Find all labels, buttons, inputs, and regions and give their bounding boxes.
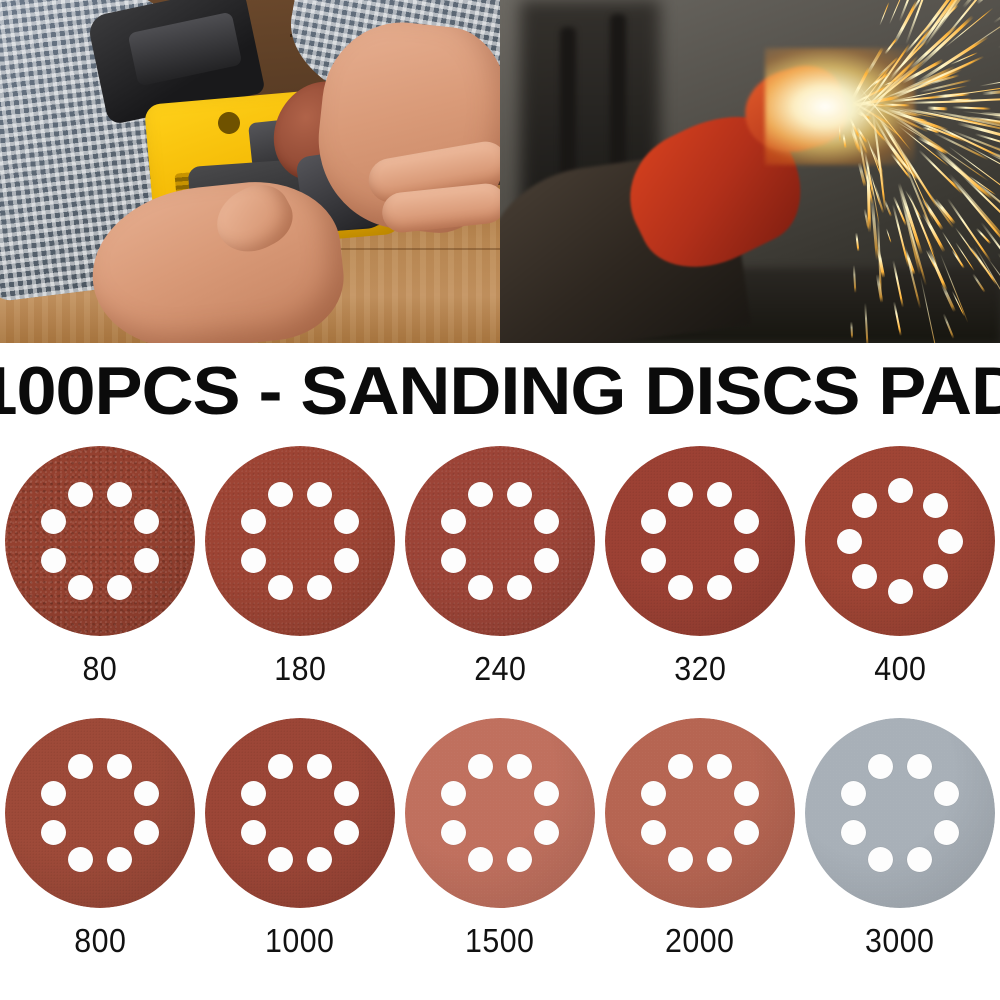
spark <box>856 233 860 252</box>
disc-hole <box>107 754 132 779</box>
disc-hole <box>507 575 532 600</box>
disc-hole <box>938 529 963 554</box>
disc-hole <box>334 548 359 573</box>
disc-body <box>805 718 995 908</box>
disc-cell-grit-240[interactable]: 240 <box>400 438 600 708</box>
disc-hole <box>707 482 732 507</box>
sanding-disc-grid: 80180240320400 8001000150020003000 <box>0 438 1000 1000</box>
sanding-disc-icon <box>605 718 795 908</box>
spark <box>972 274 985 293</box>
disc-hole <box>907 847 932 872</box>
spark <box>904 210 926 285</box>
sanding-disc-icon <box>405 718 595 908</box>
grit-label: 3000 <box>865 922 934 960</box>
sanding-disc-icon <box>205 446 395 636</box>
photo-sander-disc-attachment <box>0 0 500 343</box>
disc-hole <box>852 493 877 518</box>
disc-body <box>5 718 195 908</box>
disc-grain-texture <box>405 446 595 636</box>
grit-label: 180 <box>274 650 326 688</box>
disc-hole <box>734 820 759 845</box>
disc-grain-texture <box>5 446 195 636</box>
spark <box>839 125 840 142</box>
disc-hole <box>907 754 932 779</box>
disc-hole <box>534 548 559 573</box>
grit-label: 2000 <box>665 922 734 960</box>
disc-grain-texture <box>605 718 795 908</box>
spark <box>850 321 853 338</box>
disc-cell-grit-3000[interactable]: 3000 <box>800 710 1000 980</box>
disc-grain-texture <box>805 718 995 908</box>
grit-label: 1000 <box>265 922 334 960</box>
photo-strip <box>0 0 1000 343</box>
spark <box>879 1 890 25</box>
sanding-disc-icon <box>5 718 195 908</box>
disc-cell-grit-800[interactable]: 800 <box>0 710 200 980</box>
disc-cell-grit-400[interactable]: 400 <box>800 438 1000 708</box>
disc-body <box>605 446 795 636</box>
spark <box>952 106 991 109</box>
disc-body <box>205 718 395 908</box>
disc-hole <box>707 847 732 872</box>
spark <box>976 0 1000 4</box>
disc-cell-grit-1500[interactable]: 1500 <box>400 710 600 980</box>
disc-hole <box>307 754 332 779</box>
disc-body <box>205 446 395 636</box>
disc-body <box>805 446 995 636</box>
sanding-disc-icon <box>805 446 995 636</box>
photo-metal-grinding-sparks <box>500 0 1000 343</box>
spark <box>842 133 846 148</box>
disc-hole <box>107 482 132 507</box>
disc-cell-grit-320[interactable]: 320 <box>600 438 800 708</box>
disc-grain-texture <box>205 446 395 636</box>
sanding-disc-icon <box>605 446 795 636</box>
disc-hole <box>441 548 466 573</box>
title-band: 100PCS - SANDING DISCS PAD <box>0 343 1000 438</box>
disc-grain-texture <box>5 718 195 908</box>
spark-field <box>500 0 1000 343</box>
disc-hole <box>888 579 913 604</box>
disc-body <box>405 446 595 636</box>
spark <box>993 0 1000 24</box>
disc-hole <box>241 548 266 573</box>
spark <box>886 229 892 244</box>
disc-hole <box>507 482 532 507</box>
spark <box>993 180 1000 228</box>
spark <box>884 38 898 55</box>
spark <box>866 47 884 75</box>
disc-row: 8001000150020003000 <box>0 710 1000 980</box>
disc-hole <box>241 820 266 845</box>
disc-hole <box>107 847 132 872</box>
disc-hole <box>134 820 159 845</box>
disc-hole <box>852 564 877 589</box>
disc-hole <box>307 482 332 507</box>
disc-cell-grit-80[interactable]: 80 <box>0 438 200 708</box>
sanding-disc-icon <box>805 718 995 908</box>
grit-label: 320 <box>674 650 726 688</box>
disc-hole <box>307 847 332 872</box>
disc-body <box>405 718 595 908</box>
disc-hole <box>334 820 359 845</box>
disc-body <box>605 718 795 908</box>
disc-hole <box>441 820 466 845</box>
spark <box>854 265 857 293</box>
disc-hole <box>888 478 913 503</box>
disc-row: 80180240320400 <box>0 438 1000 708</box>
disc-hole <box>107 575 132 600</box>
grit-label: 800 <box>74 922 126 960</box>
disc-hole <box>641 548 666 573</box>
disc-hole <box>507 847 532 872</box>
disc-hole <box>707 575 732 600</box>
page-title: 100PCS - SANDING DISCS PAD <box>0 357 1000 425</box>
disc-hole <box>707 754 732 779</box>
grit-label: 240 <box>474 650 526 688</box>
spark <box>942 313 954 339</box>
disc-hole <box>841 820 866 845</box>
disc-cell-grit-2000[interactable]: 2000 <box>600 710 800 980</box>
disc-hole <box>41 820 66 845</box>
disc-hole <box>923 493 948 518</box>
disc-cell-grit-1000[interactable]: 1000 <box>200 710 400 980</box>
grit-label: 1500 <box>465 922 534 960</box>
spark <box>927 249 948 292</box>
sanding-disc-icon <box>5 446 195 636</box>
grit-label: 400 <box>874 650 926 688</box>
disc-hole <box>837 529 862 554</box>
disc-hole <box>507 754 532 779</box>
disc-hole <box>41 548 66 573</box>
disc-body <box>5 446 195 636</box>
spark <box>955 227 979 259</box>
disc-hole <box>734 548 759 573</box>
disc-hole <box>641 820 666 845</box>
disc-hole <box>134 548 159 573</box>
disc-cell-grit-180[interactable]: 180 <box>200 438 400 708</box>
spark <box>920 276 941 343</box>
disc-hole <box>534 820 559 845</box>
grit-label: 80 <box>83 650 118 688</box>
disc-grain-texture <box>405 718 595 908</box>
sanding-disc-icon <box>205 718 395 908</box>
disc-grain-texture <box>205 718 395 908</box>
disc-hole <box>934 820 959 845</box>
spark <box>864 303 869 343</box>
spark <box>876 274 884 303</box>
disc-grain-texture <box>605 446 795 636</box>
sanding-disc-icon <box>405 446 595 636</box>
disc-hole <box>307 575 332 600</box>
spark <box>979 75 1000 87</box>
disc-grain-texture <box>805 446 995 636</box>
